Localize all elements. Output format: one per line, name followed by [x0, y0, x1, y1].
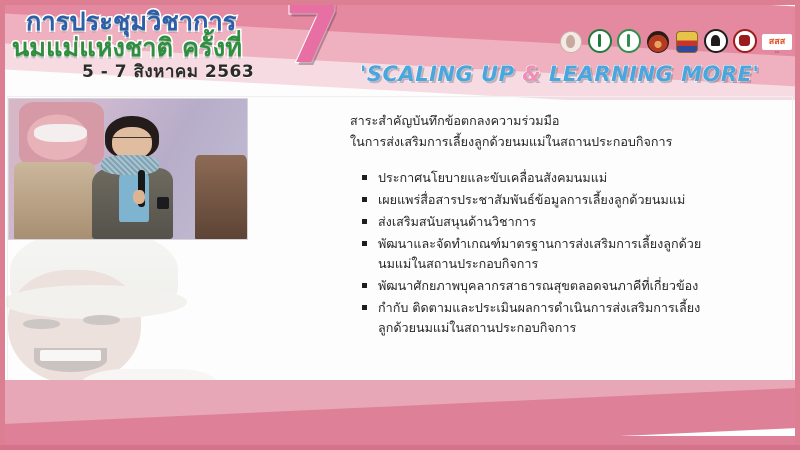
theme-ampersand: & — [522, 62, 541, 86]
eyeglasses-icon — [112, 137, 153, 145]
conference-edition-number: 7 — [284, 0, 341, 76]
conference-date: 5 - 7 สิงหาคม 2563 — [82, 58, 254, 85]
slide-text-column: สาระสำคัญบันทึกข้อตกลงความร่วมมือ ในการส… — [258, 100, 778, 340]
chair-left — [14, 162, 95, 239]
speaker-figure — [92, 116, 180, 239]
list-item: พัฒนาและจัดทำเกณฑ์มาตรฐานการส่งเสริมการเ… — [362, 234, 708, 274]
slide-bullet-list: ประกาศนโยบายและขับเคลื่อนสังคมนมแม่ เผยแ… — [362, 168, 778, 338]
slide-frame-right — [795, 0, 800, 450]
theme-text-suffix: LEARNING MORE' — [541, 62, 759, 86]
logo-green-medical-2 — [617, 24, 640, 54]
logo-green-medical-1 — [588, 24, 611, 54]
speaker-scarf — [101, 155, 159, 175]
presentation-slide: การประชุมวิชาการ นมแม่แห่งชาติ ครั้งที่ … — [0, 0, 800, 450]
royal-emblem-icon — [560, 31, 582, 53]
thaihealth-sss-icon — [762, 34, 792, 50]
list-item: เผยแพร่สื่อสารประชาสัมพันธ์ข้อมูลการเลี้… — [362, 190, 708, 210]
child-eye-right — [83, 315, 120, 325]
slide-frame-left — [0, 0, 5, 450]
logo-thaihealth-sss: สสส — [762, 24, 792, 54]
slide-lede-text: สาระสำคัญบันทึกข้อตกลงความร่วมมือ ในการส… — [350, 110, 778, 152]
child-teeth — [40, 350, 100, 361]
logo-red-circle-emblem — [733, 24, 756, 54]
remote-clicker-icon — [157, 197, 168, 209]
thai-crest-icon — [676, 31, 698, 53]
speaker-video-thumbnail[interactable] — [8, 98, 248, 240]
logo-royal-emblem — [559, 24, 582, 54]
child-hat-brim — [6, 285, 187, 319]
logo-ministry-seal — [646, 24, 669, 54]
speaker-hand — [133, 190, 145, 205]
slide-frame-bottom — [0, 445, 800, 450]
list-item: ประกาศนโยบายและขับเคลื่อนสังคมนมแม่ — [362, 168, 708, 188]
list-item: พัฒนาศักยภาพบุคลากรสาธารณสุขตลอดจนภาคีที… — [362, 276, 708, 296]
conference-theme: 'SCALING UP & LEARNING MORE' — [360, 62, 759, 86]
green-medical-icon-1 — [588, 29, 612, 53]
logo-caption: สสส — [775, 51, 780, 54]
green-medical-icon-2 — [617, 29, 641, 53]
list-item: ส่งเสริมสนับสนุนด้านวิชาการ — [362, 212, 708, 232]
red-circle-emblem-icon — [733, 29, 757, 53]
sponsor-logo-strip: สสส — [559, 24, 792, 54]
child-eye-left — [23, 319, 60, 329]
chair-right — [195, 155, 247, 239]
slide-frame-top — [0, 0, 800, 5]
logo-thai-crest — [675, 24, 698, 54]
theme-text-prefix: 'SCALING UP — [360, 62, 522, 86]
footer-decorative-band — [0, 380, 800, 450]
black-circle-emblem-icon — [704, 29, 728, 53]
list-item: กำกับ ติดตามและประเมินผลการดำเนินการส่งเ… — [362, 298, 708, 338]
ministry-seal-icon — [647, 31, 669, 53]
logo-black-circle-emblem — [704, 24, 727, 54]
